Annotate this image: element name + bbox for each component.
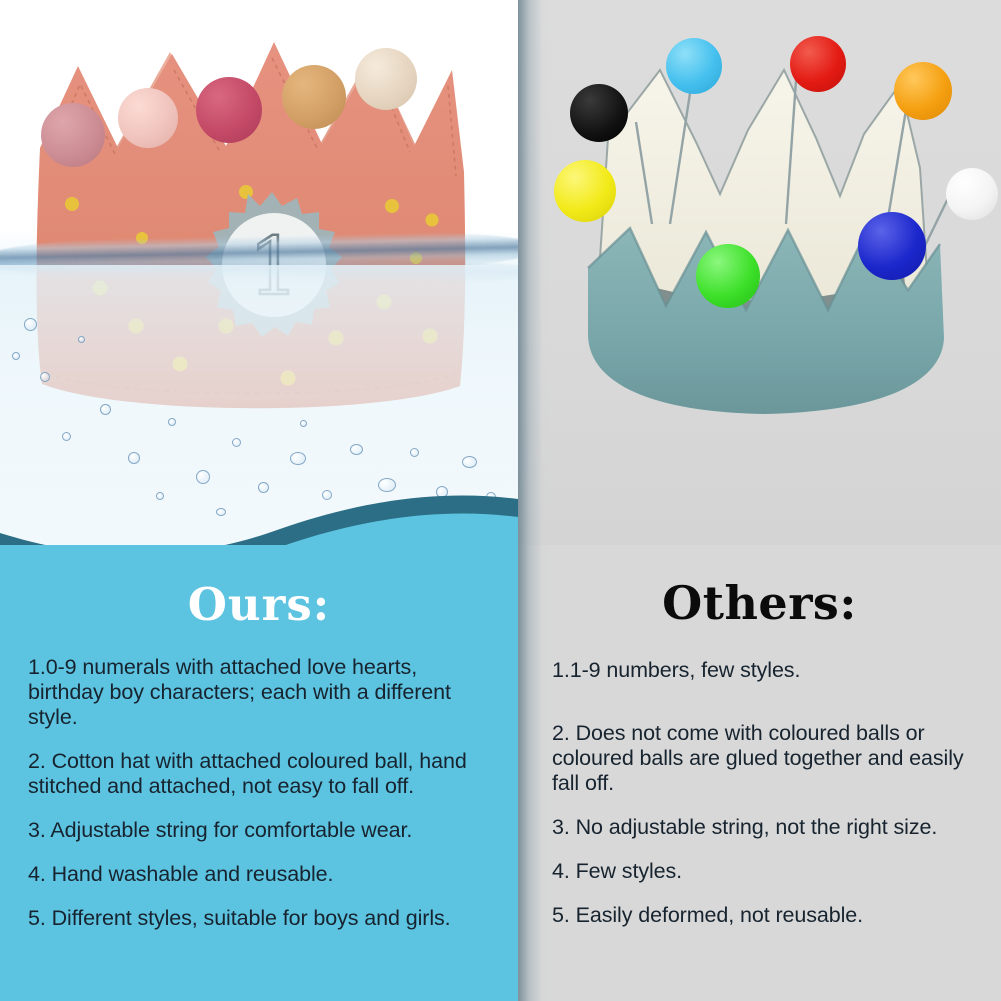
pompom-black xyxy=(570,84,628,142)
pompom-blue xyxy=(858,212,926,280)
list-item: 3. No adjustable string, not the right s… xyxy=(552,815,992,840)
pompom-yellow xyxy=(554,160,616,222)
bubble-icon xyxy=(24,318,37,331)
others-panel: Others: 1.1-9 numbers, few styles. 2. Do… xyxy=(518,0,1001,1001)
list-item: 5. Easily deformed, not reusable. xyxy=(552,903,992,928)
pompom-tan xyxy=(282,65,346,129)
pompom-rose xyxy=(196,77,262,143)
others-feature-list: 1.1-9 numbers, few styles. 2. Does not c… xyxy=(552,658,992,947)
bubble-icon xyxy=(62,432,71,441)
list-item: 5. Different styles, suitable for boys a… xyxy=(28,906,498,931)
panel-divider-shadow xyxy=(518,0,552,1001)
others-product-photo xyxy=(518,0,1001,545)
comparison-infographic: 1 xyxy=(0,0,1001,1001)
bubble-icon xyxy=(100,404,111,415)
pompom-white xyxy=(946,168,998,220)
bubble-icon xyxy=(40,372,50,382)
bubble-icon xyxy=(300,420,307,427)
ours-panel: 1 xyxy=(0,0,518,1001)
pompom-cyan xyxy=(666,38,722,94)
list-item: 4. Hand washable and reusable. xyxy=(28,862,498,887)
list-item: 4. Few styles. xyxy=(552,859,992,884)
pompom-cream xyxy=(355,48,417,110)
pompom-light-pink xyxy=(118,88,178,148)
bubble-icon xyxy=(350,444,363,455)
ours-feature-list: 1.0-9 numerals with attached love hearts… xyxy=(28,655,498,950)
list-item: 1.0-9 numerals with attached love hearts… xyxy=(28,655,498,730)
pompom-red xyxy=(790,36,846,92)
pompom-green xyxy=(696,244,760,308)
others-heading: Others: xyxy=(518,576,1001,630)
list-item: 1.1-9 numbers, few styles. xyxy=(552,658,992,683)
bubble-icon xyxy=(232,438,241,447)
ours-heading: Ours: xyxy=(0,578,518,631)
pompom-dusty-pink xyxy=(41,103,105,167)
bubble-icon xyxy=(78,336,85,343)
bubble-icon xyxy=(168,418,176,426)
list-item: 2. Does not come with coloured balls or … xyxy=(552,721,992,796)
bubble-icon xyxy=(12,352,20,360)
list-item: 3. Adjustable string for comfortable wea… xyxy=(28,818,498,843)
pompom-orange xyxy=(894,62,952,120)
list-item: 2. Cotton hat with attached coloured bal… xyxy=(28,749,498,799)
